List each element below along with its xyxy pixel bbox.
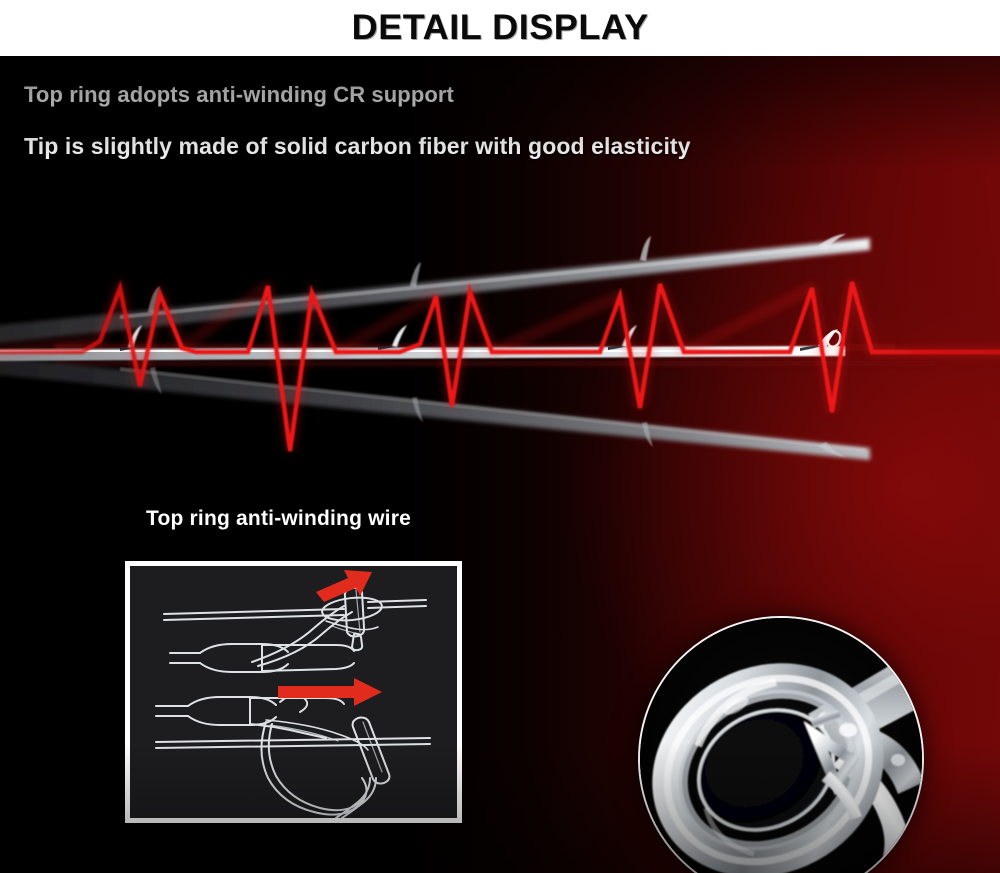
header-band: DETAIL DISPLAY: [0, 0, 1000, 56]
content-stage: Top ring adopts anti-winding CR support …: [0, 56, 1000, 873]
feature-line-1: Top ring adopts anti-winding CR support: [24, 82, 454, 108]
diagram-caption: Top ring anti-winding wire: [146, 507, 411, 531]
diagram-arrow-bottom: [278, 678, 382, 706]
detail-display-page: DETAIL DISPLAY: [0, 0, 1000, 873]
page-title: DETAIL DISPLAY: [351, 8, 648, 48]
diagram-panel-top: [164, 588, 426, 672]
diagram-panel-bottom: [156, 695, 430, 818]
anti-winding-diagram: [125, 561, 462, 823]
guide-ring-photo-svg: [640, 618, 924, 873]
diagram-canvas: [130, 566, 457, 818]
rod-lower: [0, 356, 870, 460]
anti-winding-diagram-svg: [130, 566, 457, 818]
feature-line-2: Tip is slightly made of solid carbon fib…: [24, 133, 691, 160]
